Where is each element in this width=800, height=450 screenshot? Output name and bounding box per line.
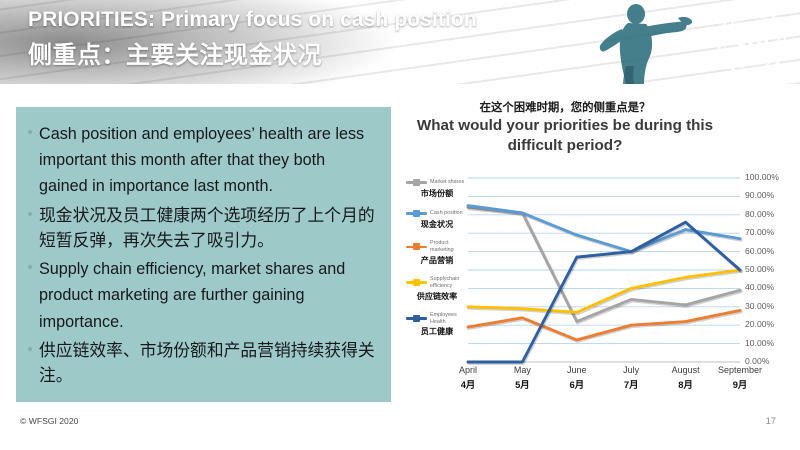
chart-y-tick-label: 10.00% [745,338,774,348]
slide: PRIORITIES: Primary focus on cash positi… [0,0,800,450]
list-item: Cash position and employees’ health are … [26,121,377,200]
chart-series-line-supplychain-efficiency [468,270,740,312]
chart-x-tick-label: June6月 [550,365,604,391]
chart-x-tick-label: July7月 [604,365,658,391]
chart-x-tick-label-cn: 8月 [659,377,713,391]
copyright-text: © WFSGI 2020 [20,416,78,426]
page-number: 17 [766,415,776,426]
chart-y-tick-label: 80.00% [745,209,774,219]
bullet-text: 现金状况及员工健康两个选项经历了上个月的短暂反弹，再次失去了吸引力。 [39,203,377,253]
bullet-list: Cash position and employees’ health are … [16,107,391,388]
chart-x-tick-label-en: June [550,365,604,375]
slide-title-cn: 侧重点：主要关注现金状况 [28,35,322,70]
chart-x-tick-label-en: April [441,365,495,375]
chart-title-en: What would your priorities be during thi… [400,116,730,156]
bullet-dot-icon [28,265,32,269]
chart-y-tick-label: 90.00% [745,190,774,200]
bullet-dot-icon [28,130,32,134]
chart-container: 在这个困难时期，您的侧重点是？ What would your prioriti… [400,96,800,406]
content-textbox: Cash position and employees’ health are … [16,107,391,402]
chart-x-tick-label-cn: 5月 [495,377,549,391]
chart-y-tick-label: 50.00% [745,264,774,274]
chart-x-tick-label-cn: 9月 [713,377,767,391]
chart-y-tick-label: 40.00% [745,282,774,292]
chart-line-shadow [469,312,741,341]
chart-x-tick-label: May5月 [495,365,549,391]
chart-x-tick-label: August8月 [659,365,713,391]
chart-x-tick-label-en: July [604,365,658,375]
chart-plot-area [400,172,800,387]
bullet-text: Cash position and employees’ health are … [39,121,377,200]
list-item: 供应链效率、市场份额和产品营销持续获得关注。 [26,338,377,388]
chart-x-tick-label-cn: 6月 [550,377,604,391]
list-item: Supply chain efficiency, market shares a… [26,256,377,335]
chart-x-tick-label-cn: 7月 [604,377,658,391]
chart-title-cn: 在这个困难时期，您的侧重点是？ [400,99,730,115]
bullet-dot-icon [28,212,32,216]
list-item: 现金状况及员工健康两个选项经历了上个月的短暂反弹，再次失去了吸引力。 [26,203,377,253]
chart-y-tick-label: 70.00% [745,227,774,237]
bullet-dot-icon [28,347,32,351]
chart-line-shadow [469,207,741,253]
runner-silhouette-icon [578,0,708,84]
chart-y-tick-label: 100.00% [745,172,779,182]
chart-svg [400,172,800,387]
chart-series-line-cash-position [468,206,740,252]
chart-line-shadow [469,209,741,323]
slide-title-en: PRIORITIES: Primary focus on cash positi… [28,8,477,32]
chart-x-tick-label-cn: 4月 [441,377,495,391]
header-banner: PRIORITIES: Primary focus on cash positi… [0,0,800,84]
bullet-text: Supply chain efficiency, market shares a… [39,256,377,335]
chart-x-tick-label-en: August [659,365,713,375]
chart-x-tick-label-en: September [713,365,767,375]
chart-y-tick-label: 20.00% [745,319,774,329]
logo-wordmark: sgi [734,30,769,57]
bullet-text: 供应链效率、市场份额和产品营销持续获得关注。 [39,338,377,388]
chart-y-tick-label: 30.00% [745,301,774,311]
chart-x-tick-label: September9月 [713,365,767,391]
chart-x-tick-label-en: May [495,365,549,375]
wfsgi-sgi-logo: sgi WORLD FEDERATION SPORTING GOODS INDU… [716,6,788,78]
chart-x-tick-label: April4月 [441,365,495,391]
chart-y-tick-label: 60.00% [745,246,774,256]
